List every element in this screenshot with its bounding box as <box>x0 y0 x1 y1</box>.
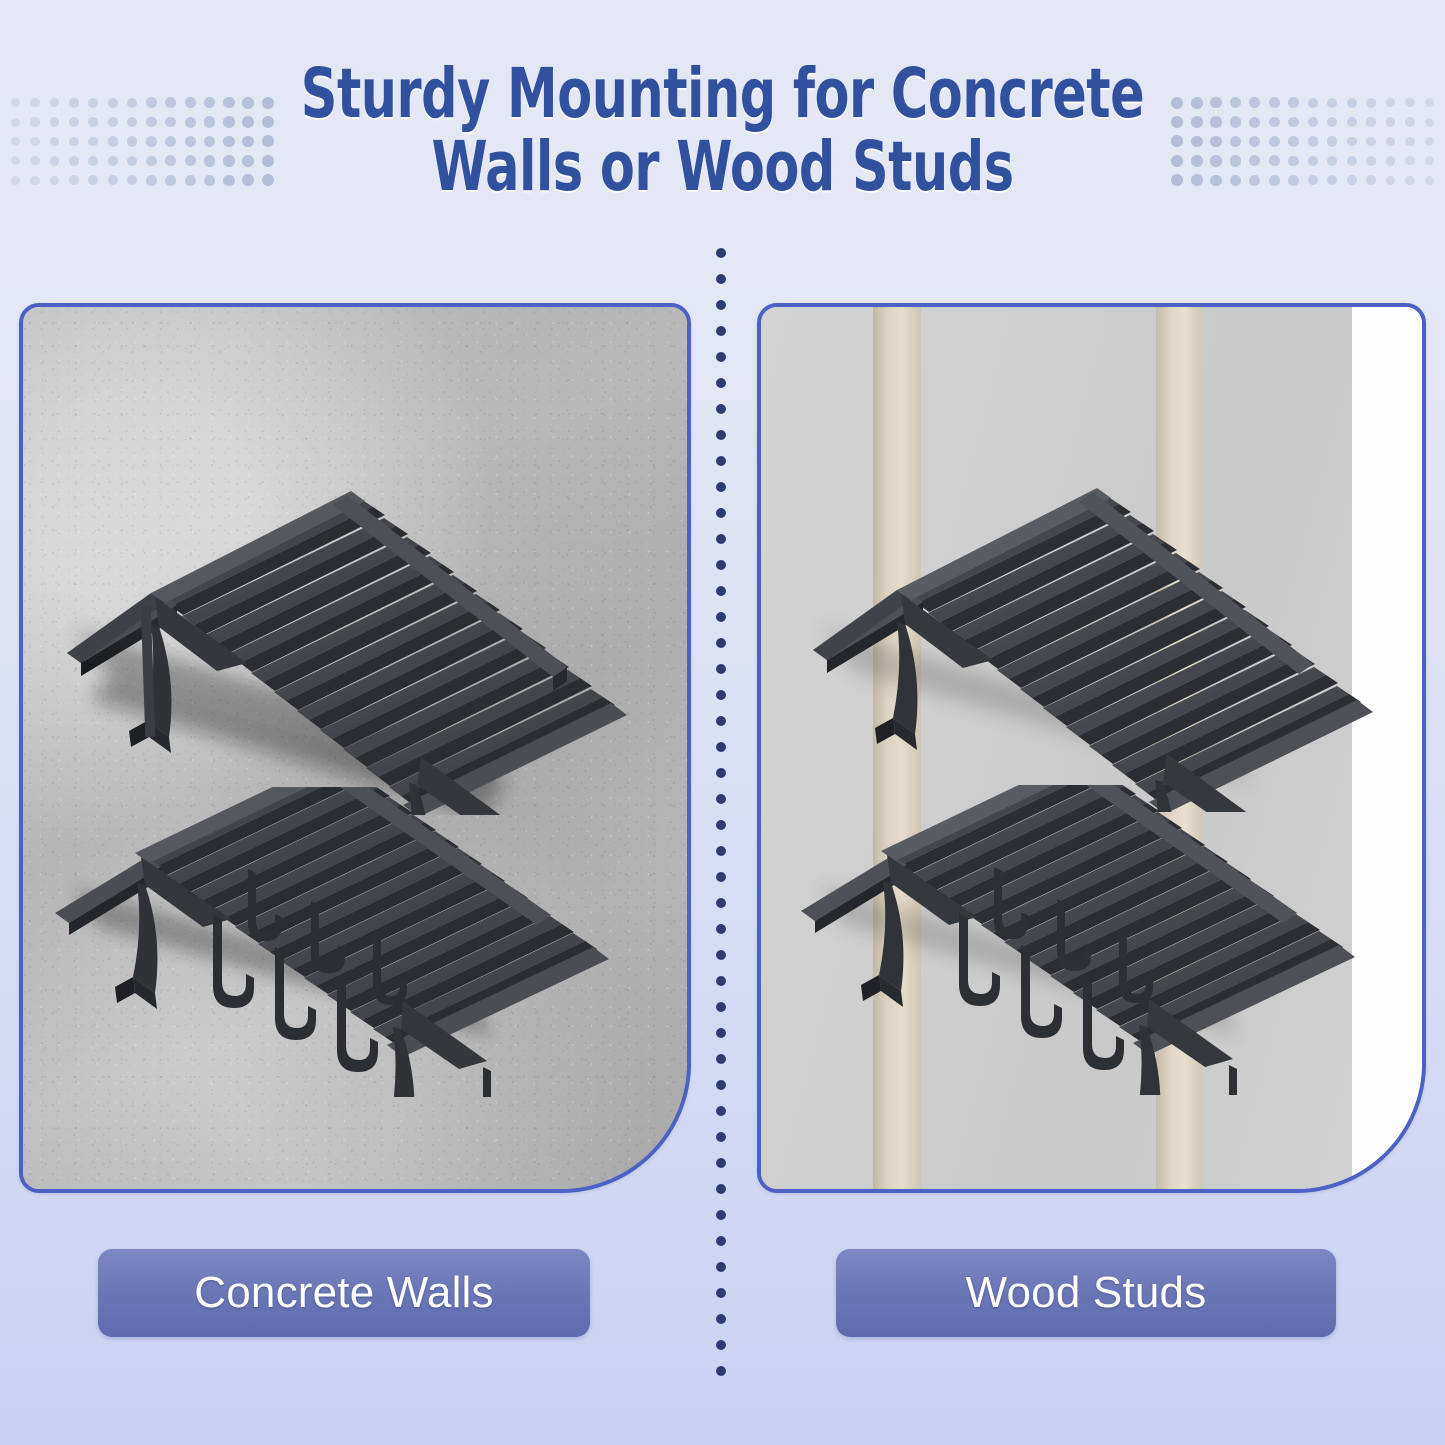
divider-dot <box>716 1184 726 1194</box>
divider-dot <box>716 1158 726 1168</box>
divider-dot <box>716 846 726 856</box>
shelf-upper-concrete <box>51 485 651 815</box>
caption-wood-studs[interactable]: Wood Studs <box>836 1249 1336 1337</box>
divider-dot <box>716 1236 726 1246</box>
title-line-2: Walls or Wood Studs <box>130 131 1315 204</box>
divider-dot <box>716 482 726 492</box>
divider-dot <box>716 1210 726 1220</box>
divider-dot <box>716 638 726 648</box>
divider-dot <box>716 1080 726 1090</box>
panel-wood-studs <box>757 303 1426 1193</box>
panel-concrete-walls <box>19 303 691 1193</box>
shelf-upper-studs <box>797 482 1397 812</box>
divider-dot <box>716 976 726 986</box>
divider-dot <box>716 300 726 310</box>
divider-dot <box>716 898 726 908</box>
divider-dot <box>716 1002 726 1012</box>
divider-dot <box>716 1288 726 1298</box>
divider-dot <box>716 950 726 960</box>
divider-dot <box>716 248 726 258</box>
divider-dot <box>716 586 726 596</box>
title-line-1: Sturdy Mounting for Concrete <box>130 58 1315 131</box>
divider-dot <box>716 1106 726 1116</box>
divider-dot <box>716 326 726 336</box>
divider-dot <box>716 794 726 804</box>
divider-dot <box>716 924 726 934</box>
divider-dot <box>716 1314 726 1324</box>
divider-dot <box>716 768 726 778</box>
divider-dot <box>716 1262 726 1272</box>
shelf-lower-hooks-studs <box>789 785 1389 1095</box>
dotted-divider <box>716 248 726 1383</box>
divider-dot <box>716 716 726 726</box>
divider-dot <box>716 1028 726 1038</box>
divider-dot <box>716 612 726 622</box>
divider-dot <box>716 560 726 570</box>
caption-concrete-walls[interactable]: Concrete Walls <box>98 1249 590 1337</box>
divider-dot <box>716 820 726 830</box>
divider-dot <box>716 378 726 388</box>
caption-concrete-walls-label: Concrete Walls <box>194 1268 493 1318</box>
divider-dot <box>716 1132 726 1142</box>
divider-dot <box>716 274 726 284</box>
divider-dot <box>716 1054 726 1064</box>
divider-dot <box>716 1366 726 1376</box>
divider-dot <box>716 872 726 882</box>
page-title: Sturdy Mounting for Concrete Walls or Wo… <box>0 58 1445 204</box>
divider-dot <box>716 664 726 674</box>
divider-dot <box>716 430 726 440</box>
divider-dot <box>716 508 726 518</box>
divider-dot <box>716 742 726 752</box>
divider-dot <box>716 352 726 362</box>
caption-wood-studs-label: Wood Studs <box>966 1268 1207 1318</box>
divider-dot <box>716 534 726 544</box>
divider-dot <box>716 404 726 414</box>
divider-dot <box>716 690 726 700</box>
shelf-lower-hooks-concrete <box>43 787 643 1097</box>
divider-dot <box>716 456 726 466</box>
divider-dot <box>716 1340 726 1350</box>
